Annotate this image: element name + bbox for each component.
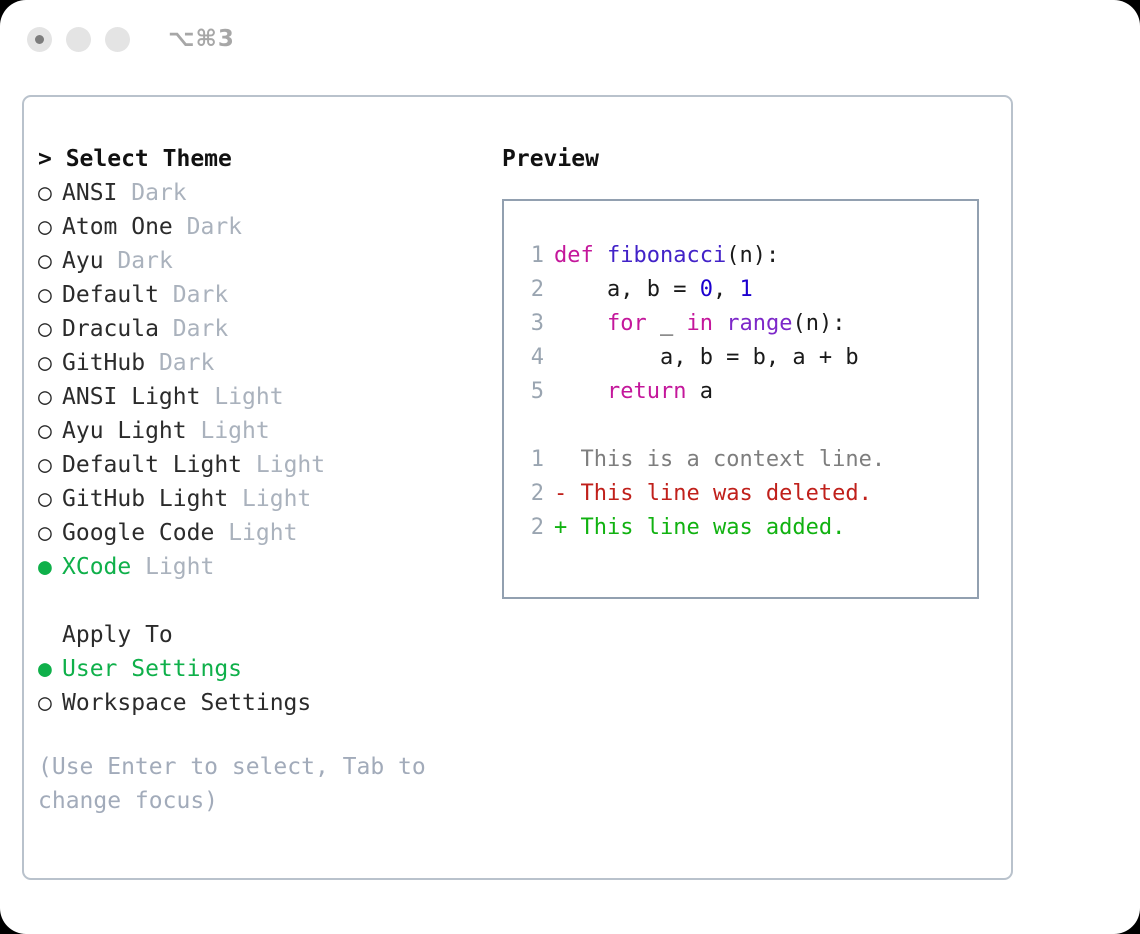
theme-option-variant-tag: Dark: [187, 214, 242, 240]
code-token: [713, 311, 726, 336]
code-token: a, b =: [554, 277, 700, 302]
radio-unselected-icon: ○: [38, 686, 62, 720]
window-controls: [27, 27, 130, 52]
diff-text: This line was added.: [581, 515, 846, 540]
code-token: fibonacci: [607, 243, 726, 268]
code-token: a: [686, 379, 713, 404]
line-number: 2: [518, 273, 544, 307]
apply-to-option-user-settings[interactable]: ●User Settings: [38, 652, 488, 686]
theme-option-label: ANSI Light: [62, 384, 200, 410]
line-number: 5: [518, 375, 544, 409]
theme-option-google-code[interactable]: ○Google Code Light: [38, 516, 488, 550]
radio-unselected-icon: ○: [38, 516, 62, 550]
keyboard-hint-text: (Use Enter to select, Tab to change focu…: [38, 750, 458, 818]
code-token: a, b = b, a + b: [554, 345, 859, 370]
theme-option-label: ANSI: [62, 180, 117, 206]
theme-option-ansi[interactable]: ○ANSI Dark: [38, 176, 488, 210]
radio-unselected-icon: ○: [38, 176, 62, 210]
diff-marker: [554, 447, 567, 472]
select-theme-header: > Select Theme: [38, 142, 488, 176]
window-dot-third[interactable]: [105, 27, 130, 52]
code-token: (n):: [726, 243, 779, 268]
diff-text: This is a context line.: [581, 447, 886, 472]
code-token: for: [607, 311, 647, 336]
code-token: [554, 311, 607, 336]
diff-spacer: [567, 515, 580, 540]
code-token: ,: [713, 277, 740, 302]
theme-option-github[interactable]: ○GitHub Dark: [38, 346, 488, 380]
radio-selected-icon: ●: [38, 550, 62, 584]
app-window: ⌥⌘3 > Select Theme ○ANSI Dark○Atom One D…: [0, 0, 1140, 934]
window-dot-second[interactable]: [66, 27, 91, 52]
code-line: 1def fibonacci(n):: [518, 239, 977, 273]
theme-option-variant-tag: Dark: [173, 282, 228, 308]
theme-option-variant-tag: Dark: [159, 350, 214, 376]
theme-option-label: Default Light: [62, 452, 242, 478]
radio-unselected-icon: ○: [38, 244, 62, 278]
theme-option-variant-tag: Dark: [173, 316, 228, 342]
line-number: 1: [518, 239, 544, 273]
section-spacer: [38, 584, 488, 618]
line-number: 3: [518, 307, 544, 341]
theme-option-dracula[interactable]: ○Dracula Dark: [38, 312, 488, 346]
line-number: 4: [518, 341, 544, 375]
theme-option-default-light[interactable]: ○Default Light Light: [38, 448, 488, 482]
diff-line: 2+ This line was added.: [518, 511, 977, 545]
code-token: range: [726, 311, 792, 336]
theme-option-label: GitHub: [62, 350, 145, 376]
code-line: 5 return a: [518, 375, 977, 409]
theme-option-ansi-light[interactable]: ○ANSI Light Light: [38, 380, 488, 414]
apply-to-option-list: ●User Settings○Workspace Settings: [38, 652, 488, 720]
theme-picker-card: > Select Theme ○ANSI Dark○Atom One Dark○…: [22, 95, 1013, 880]
theme-option-label: GitHub Light: [62, 486, 228, 512]
window-dot-active[interactable]: [27, 27, 52, 52]
code-sample: 1def fibonacci(n):2 a, b = 0, 13 for _ i…: [518, 239, 977, 409]
theme-option-label: Ayu Light: [62, 418, 187, 444]
radio-unselected-icon: ○: [38, 346, 62, 380]
theme-option-label: Default: [62, 282, 159, 308]
theme-option-list: ○ANSI Dark○Atom One Dark○Ayu Dark○Defaul…: [38, 176, 488, 584]
radio-unselected-icon: ○: [38, 380, 62, 414]
theme-option-atom-one[interactable]: ○Atom One Dark: [38, 210, 488, 244]
keyboard-shortcut-badge: ⌥⌘3: [168, 26, 235, 52]
radio-unselected-icon: ○: [38, 414, 62, 448]
theme-option-variant-tag: Dark: [131, 180, 186, 206]
theme-option-variant-tag: Light: [256, 452, 325, 478]
apply-to-option-workspace-settings[interactable]: ○Workspace Settings: [38, 686, 488, 720]
code-token: return: [607, 379, 686, 404]
code-line: 2 a, b = 0, 1: [518, 273, 977, 307]
window-dot-active-inner: [35, 35, 44, 44]
radio-unselected-icon: ○: [38, 482, 62, 516]
preview-column: Preview 1def fibonacci(n):2 a, b = 0, 13…: [502, 142, 1002, 599]
diff-sample: 1 This is a context line.2- This line wa…: [518, 443, 977, 545]
code-diff-gap: [518, 409, 977, 443]
diff-text: This line was deleted.: [581, 481, 872, 506]
code-token: (n):: [792, 311, 845, 336]
code-line: 4 a, b = b, a + b: [518, 341, 977, 375]
radio-unselected-icon: ○: [38, 210, 62, 244]
theme-option-label: Google Code: [62, 520, 214, 546]
code-token: _: [647, 311, 687, 336]
theme-option-github-light[interactable]: ○GitHub Light Light: [38, 482, 488, 516]
code-line: 3 for _ in range(n):: [518, 307, 977, 341]
diff-spacer: [567, 481, 580, 506]
theme-option-variant-tag: Light: [200, 418, 269, 444]
diff-marker: +: [554, 515, 567, 540]
line-number: 2: [518, 477, 544, 511]
radio-selected-icon: ●: [38, 652, 62, 686]
line-number: 1: [518, 443, 544, 477]
code-token: [554, 379, 607, 404]
theme-option-default[interactable]: ○Default Dark: [38, 278, 488, 312]
theme-selection-column: > Select Theme ○ANSI Dark○Atom One Dark○…: [38, 142, 488, 818]
theme-option-variant-tag: Light: [145, 554, 214, 580]
title-bar: ⌥⌘3: [0, 0, 1140, 78]
theme-option-ayu-light[interactable]: ○Ayu Light Light: [38, 414, 488, 448]
diff-line: 2- This line was deleted.: [518, 477, 977, 511]
theme-option-label: Dracula: [62, 316, 159, 342]
code-token: in: [686, 311, 713, 336]
radio-unselected-icon: ○: [38, 448, 62, 482]
diff-line: 1 This is a context line.: [518, 443, 977, 477]
radio-unselected-icon: ○: [38, 312, 62, 346]
code-token: def: [554, 243, 607, 268]
line-number: 2: [518, 511, 544, 545]
theme-option-xcode[interactable]: ●XCode Light: [38, 550, 488, 584]
apply-to-option-label: User Settings: [62, 656, 242, 682]
theme-option-label: Atom One: [62, 214, 173, 240]
diff-marker: -: [554, 481, 567, 506]
diff-spacer: [567, 447, 580, 472]
theme-option-label: XCode: [62, 554, 131, 580]
radio-unselected-icon: ○: [38, 278, 62, 312]
theme-option-ayu[interactable]: ○Ayu Dark: [38, 244, 488, 278]
theme-option-variant-tag: Light: [242, 486, 311, 512]
apply-to-option-label: Workspace Settings: [62, 690, 311, 716]
code-token: 0: [700, 277, 713, 302]
theme-option-variant-tag: Light: [214, 384, 283, 410]
theme-option-label: Ayu: [62, 248, 104, 274]
theme-option-variant-tag: Dark: [117, 248, 172, 274]
preview-box: 1def fibonacci(n):2 a, b = 0, 13 for _ i…: [502, 199, 979, 599]
apply-to-label: Apply To: [38, 618, 488, 652]
theme-option-variant-tag: Light: [228, 520, 297, 546]
preview-title: Preview: [502, 142, 1002, 176]
code-token: 1: [739, 277, 752, 302]
